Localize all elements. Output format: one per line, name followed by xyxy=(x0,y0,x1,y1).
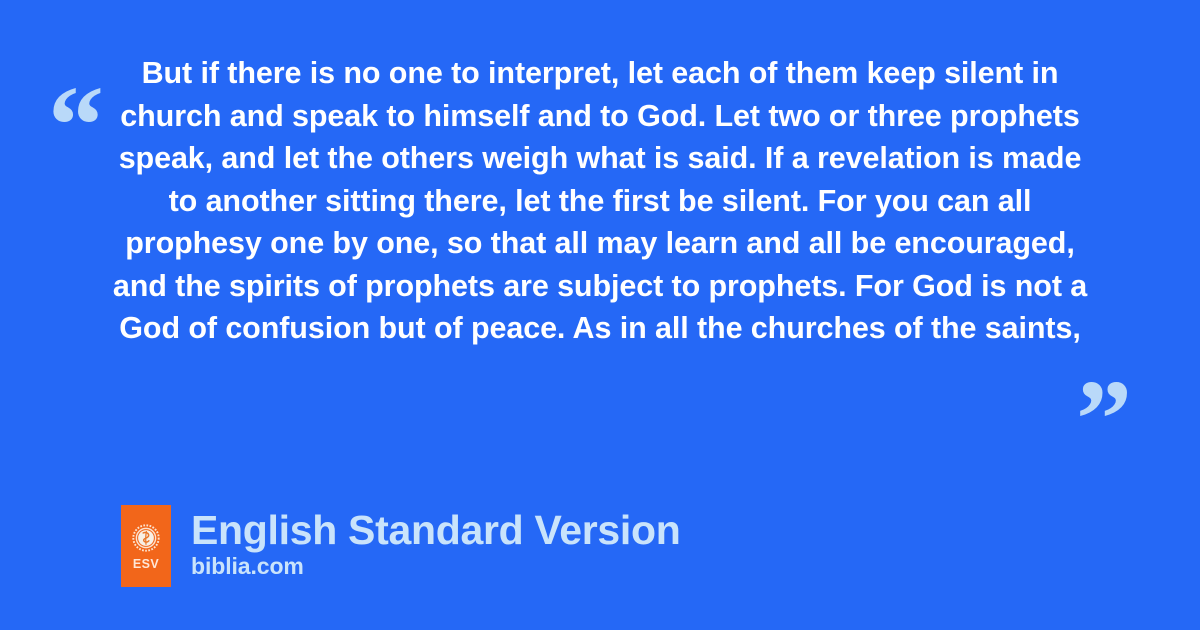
quote-close-icon: ” xyxy=(1076,364,1132,476)
esv-seal-icon xyxy=(132,524,160,552)
quote-card: “ But if there is no one to interpret, l… xyxy=(0,0,1200,630)
quote-block: “ But if there is no one to interpret, l… xyxy=(0,52,1200,432)
footer-attribution: ESV English Standard Version biblia.com xyxy=(121,505,680,587)
esv-logo-label: ESV xyxy=(133,558,159,571)
site-url: biblia.com xyxy=(191,553,680,580)
esv-logo: ESV xyxy=(121,505,171,587)
quote-text: But if there is no one to interpret, let… xyxy=(112,52,1088,350)
bible-version-title: English Standard Version xyxy=(191,507,680,553)
quote-open-icon: “ xyxy=(48,70,104,182)
footer-text-group: English Standard Version biblia.com xyxy=(191,505,680,580)
